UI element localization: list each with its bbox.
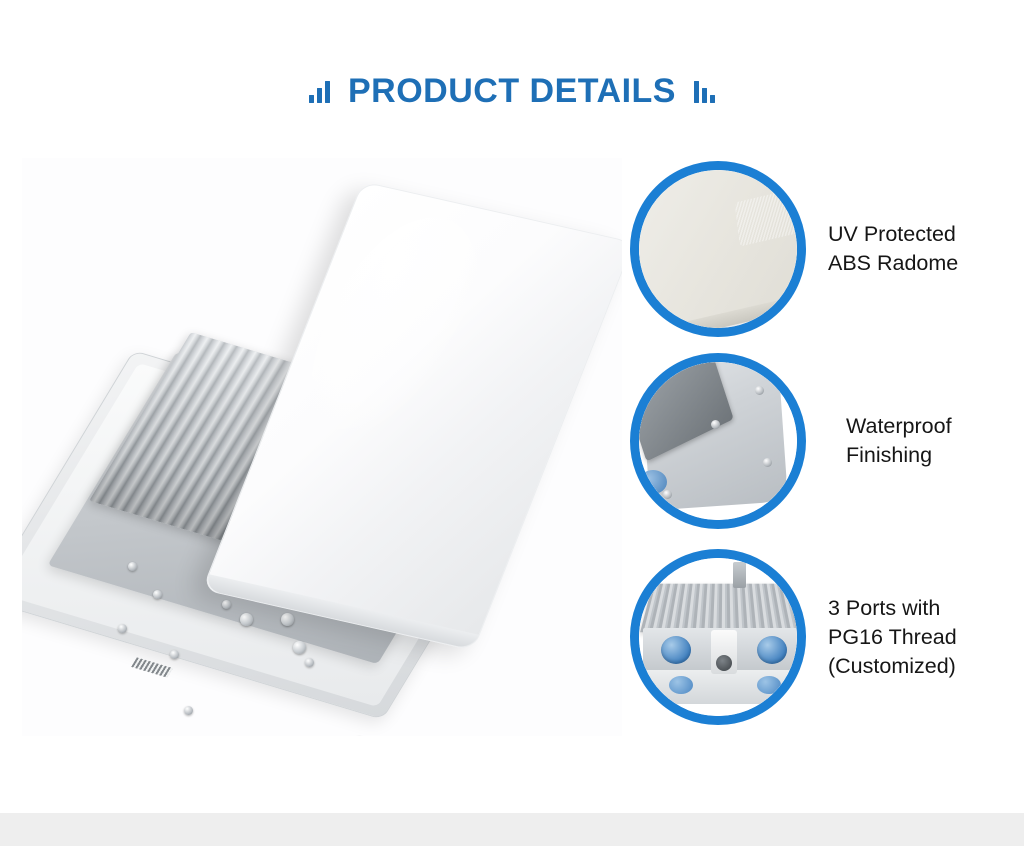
heatsink-screw: [222, 600, 231, 609]
feature-label-uv-radome: UV Protected ABS Radome: [828, 220, 958, 278]
feature-item-uv-radome[interactable]: UV Protected ABS Radome: [630, 158, 1024, 340]
product-details-page: PRODUCT DETAILS: [0, 0, 1024, 846]
heatsink-screw: [305, 658, 314, 667]
heatsink-boss: [293, 641, 306, 654]
page-header: PRODUCT DETAILS: [0, 62, 1024, 120]
pg16-cable-gland: [711, 630, 737, 674]
heatsink-boss: [281, 613, 294, 626]
product-photo-stage: [22, 158, 622, 736]
housing-label-strip: [131, 657, 173, 677]
bar-chart-descending-icon: [694, 79, 715, 103]
feature-item-ports[interactable]: 3 Ports with PG16 Thread (Customized): [630, 546, 1024, 728]
feature-thumb-waterproof[interactable]: [630, 353, 806, 529]
port-cap-blue-lower: [757, 676, 781, 694]
radome-corner-photo: [639, 170, 797, 328]
chassis-screw: [153, 590, 162, 599]
feature-list: UV Protected ABS Radome W: [630, 158, 1024, 738]
feature-label-ports: 3 Ports with PG16 Thread (Customized): [828, 594, 957, 681]
feature-item-waterproof[interactable]: Waterproof Finishing: [630, 350, 1024, 532]
housing-screw: [128, 562, 137, 571]
heatsink-boss: [240, 613, 253, 626]
waterproof-bracket-photo: [639, 362, 797, 520]
ports-photo: [639, 558, 797, 716]
chassis-screw: [184, 706, 193, 715]
bar-chart-ascending-icon: [309, 79, 330, 103]
main-product-image[interactable]: [22, 158, 622, 736]
feature-thumb-ports[interactable]: [630, 549, 806, 725]
page-title: PRODUCT DETAILS: [348, 74, 676, 108]
feature-label-waterproof: Waterproof Finishing: [828, 412, 952, 470]
port-cap-blue: [757, 636, 787, 664]
housing-screw: [118, 624, 127, 633]
chassis-screw: [170, 650, 179, 659]
footer-band: [0, 813, 1024, 846]
feature-thumb-uv-radome[interactable]: [630, 161, 806, 337]
port-cap-blue: [661, 636, 691, 664]
port-cap-blue-lower: [669, 676, 693, 694]
